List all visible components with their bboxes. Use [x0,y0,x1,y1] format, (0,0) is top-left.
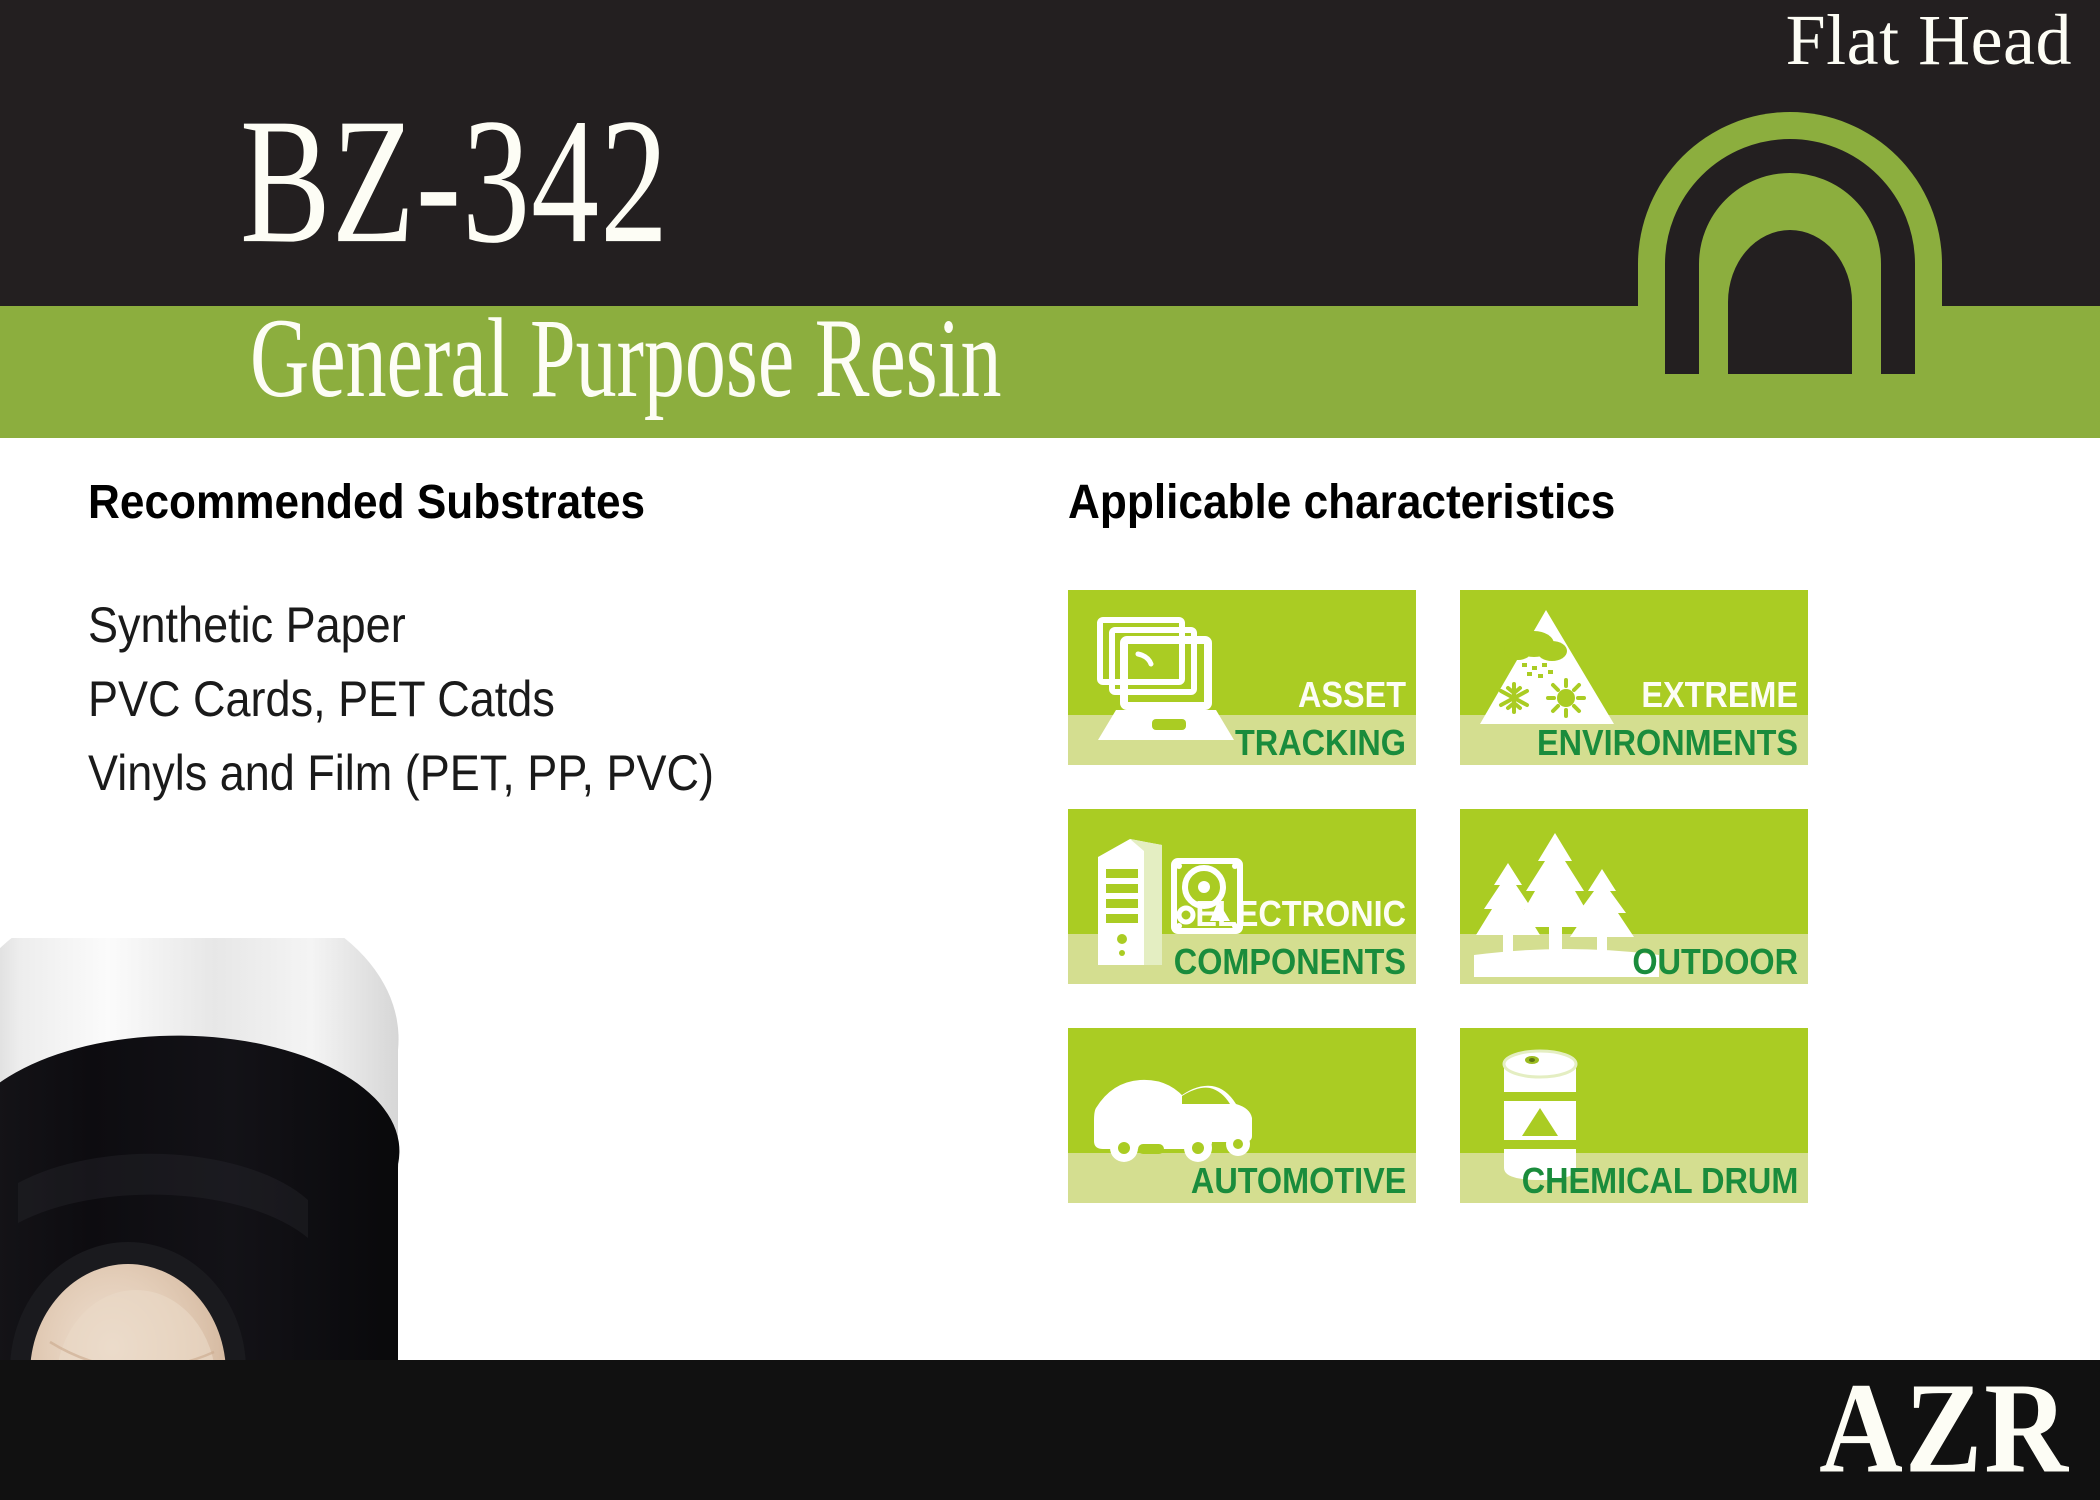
page-title: BZ-342 [240,92,669,272]
characteristic-tile-chemical-drum: CHEMICAL DRUM [1460,1028,1808,1203]
brand-logo-text: AZR [1819,1364,2070,1494]
characteristics-heading: Applicable characteristics [1068,479,1615,527]
characteristic-tile-outdoor: OUTDOOR [1460,809,1808,984]
arch-ring-logo-icon [1620,84,1960,374]
list-item: Synthetic Paper [88,588,714,662]
characteristic-tile-automotive: AUTOMOTIVE [1068,1028,1416,1203]
product-subtitle: General Purpose Resin [250,306,1002,415]
product-datasheet-label: Flat Head BZ-342 General Purpose Resin R… [0,0,2100,1500]
list-item: PVC Cards, PET Catds [88,662,714,736]
footer-black-band [0,1360,2100,1500]
tile-label-bottom: AUTOMOTIVE [1191,1163,1406,1199]
characteristic-tile-electronic-components: ELECTRONIC COMPONENTS [1068,809,1416,984]
tile-label-bottom: TRACKING [1235,725,1406,761]
pine-trees-icon [1474,817,1659,977]
substrates-heading: Recommended Substrates [88,479,645,527]
characteristics-tile-grid: ASSET TRACKING [1068,590,1828,1203]
characteristic-tile-extreme-environments: EXTREME ENVIRONMENTS [1460,590,1808,765]
tile-label-bottom: CHEMICAL DRUM [1521,1163,1798,1199]
characteristic-tile-asset-tracking: ASSET TRACKING [1068,590,1416,765]
list-item: Vinyls and Film (PET, PP, PVC) [88,736,714,810]
tile-label-bottom: COMPONENTS [1174,944,1406,980]
tile-label-bottom: OUTDOOR [1632,944,1798,980]
tile-label-top: EXTREME [1641,677,1798,713]
tile-label-top: ASSET [1298,677,1406,713]
ribbon-roll-photo [0,938,478,1418]
substrates-list: Synthetic Paper PVC Cards, PET Catds Vin… [88,588,784,810]
print-head-type-label: Flat Head [1786,4,2072,76]
tile-label-bottom: ENVIRONMENTS [1537,725,1798,761]
